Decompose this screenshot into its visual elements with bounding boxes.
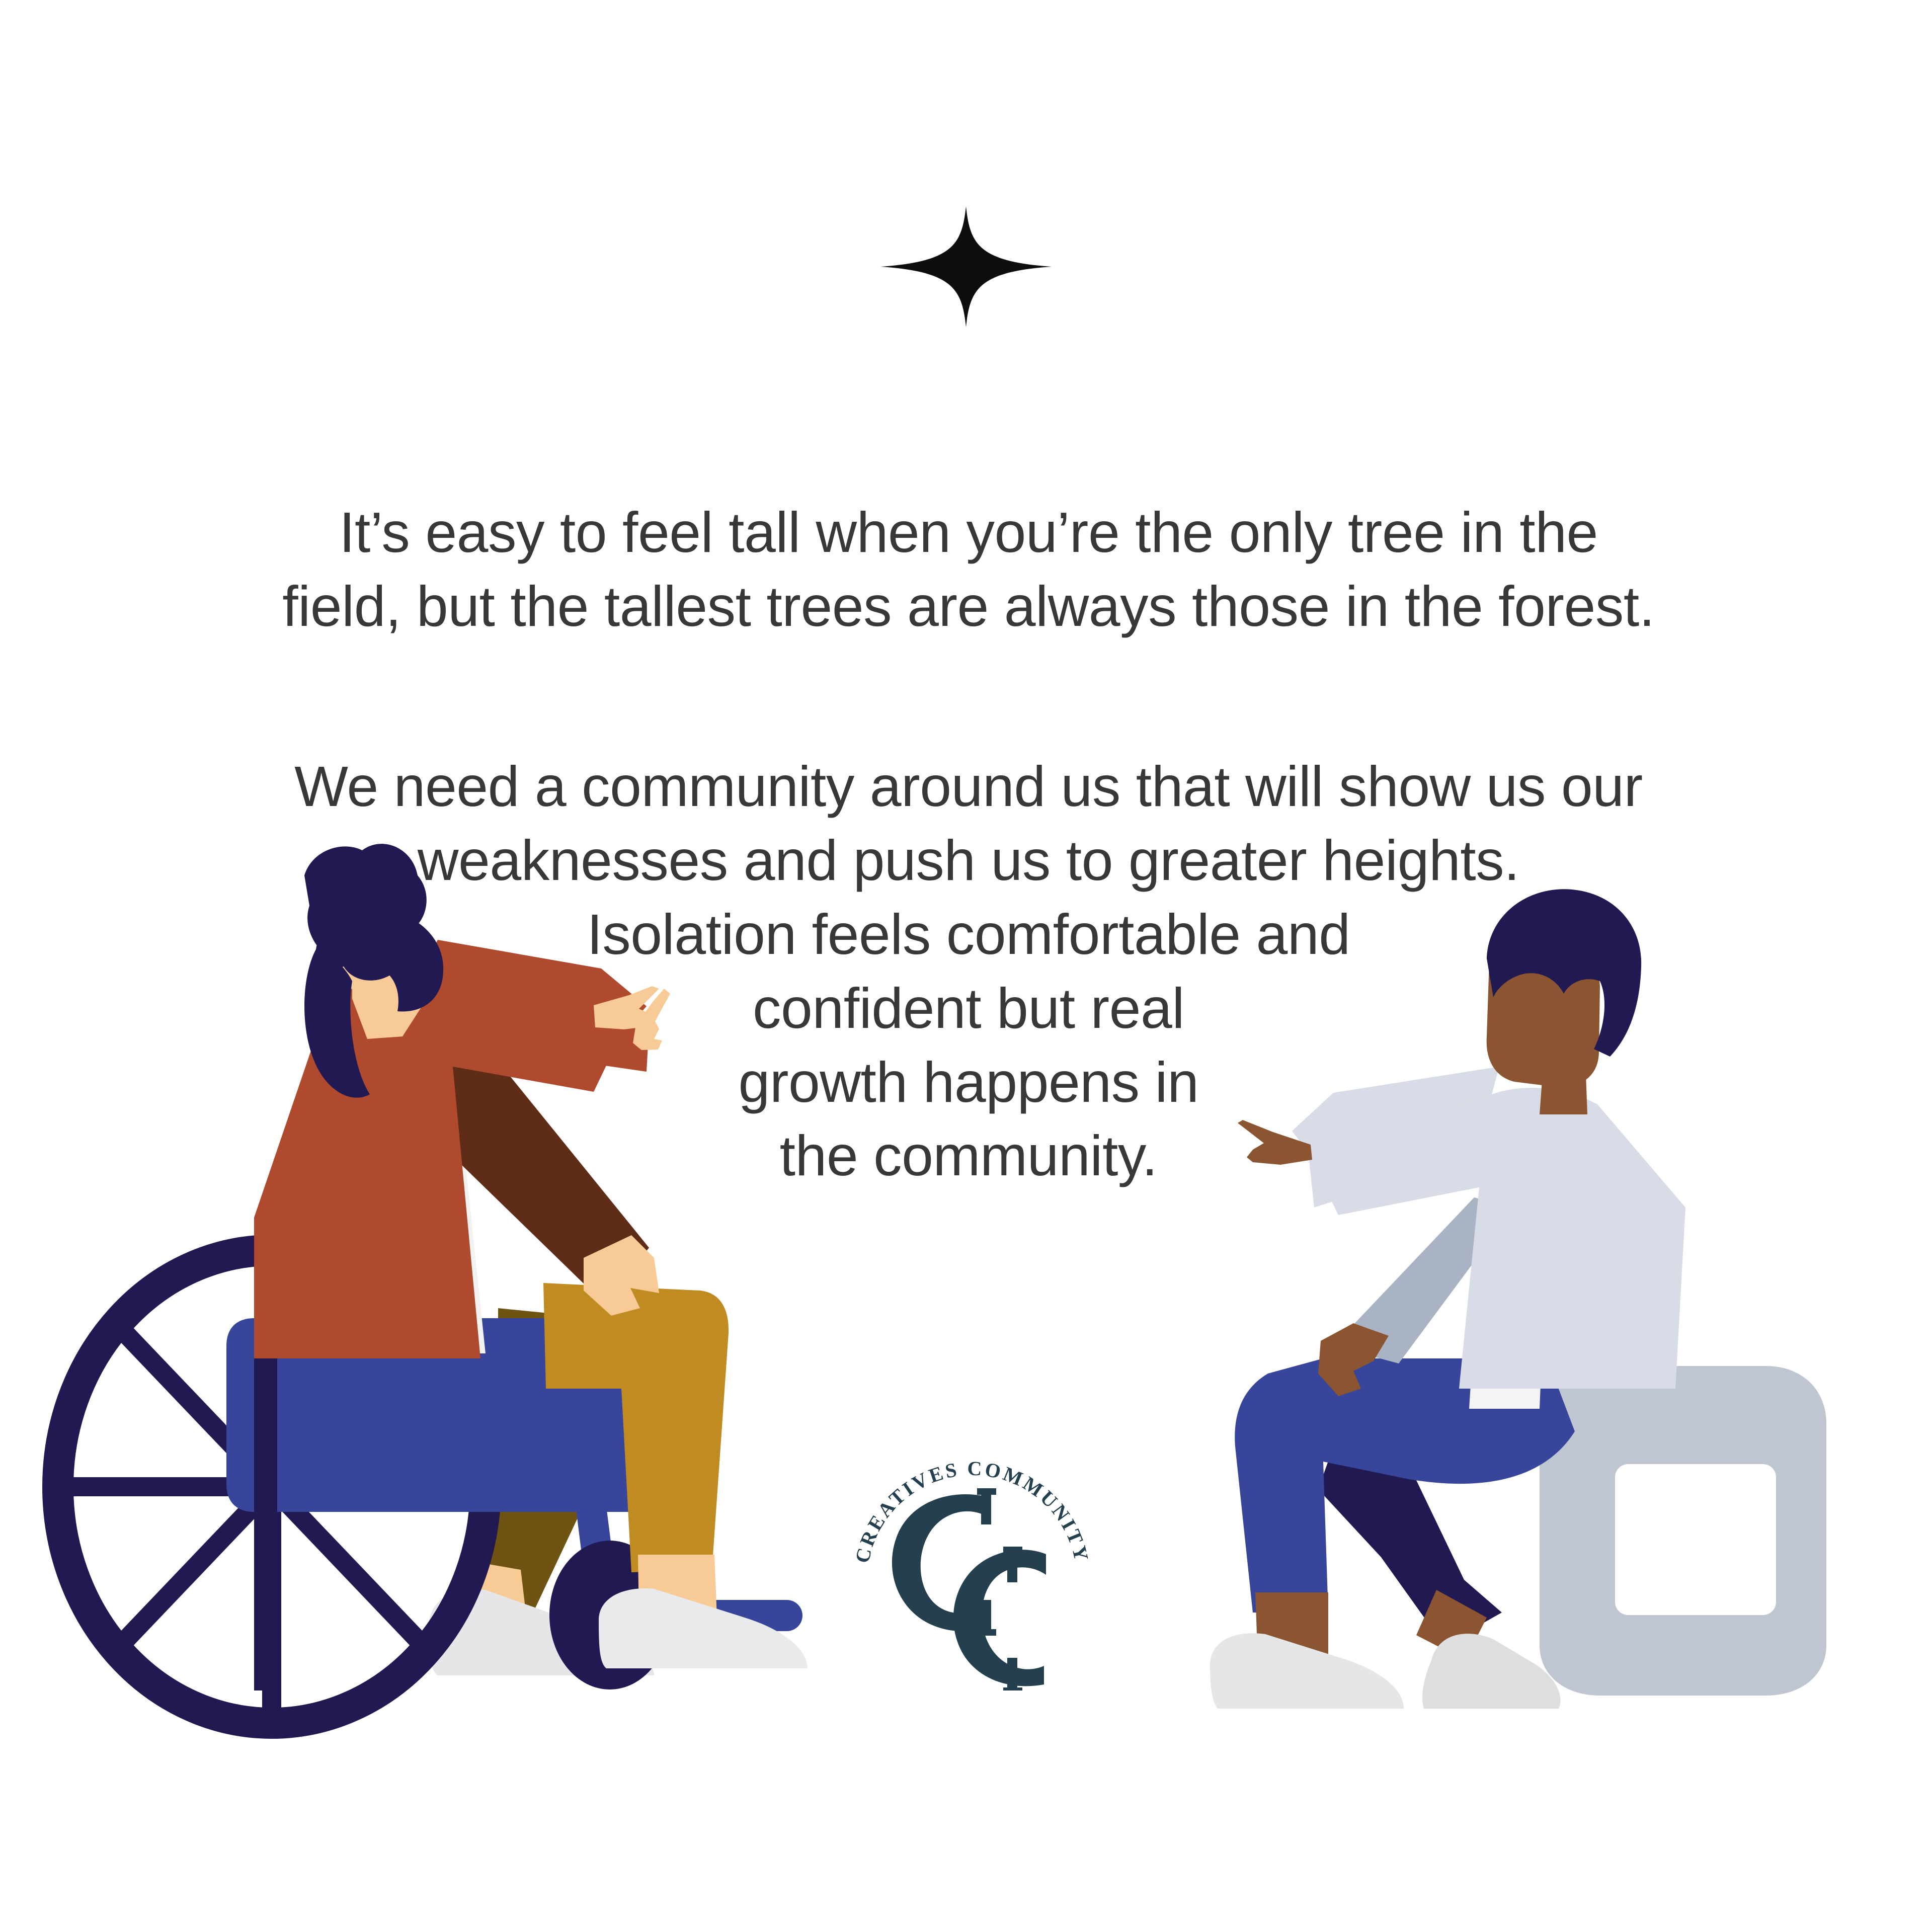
left-figure-back-leg — [429, 1308, 654, 1675]
quote-paragraph-two: We need a community around us that will … — [151, 750, 1786, 1193]
sparkle-decoration — [875, 201, 1057, 332]
quote-paragraph-one: It’s easy to feel tall when you’re the o… — [151, 496, 1786, 643]
left-figure-lower-hand — [584, 1235, 659, 1316]
wheelchair-frame — [254, 1308, 802, 1691]
creatives-community-logo[interactable]: CREATIVES COMMUNITY — [841, 1429, 1103, 1691]
wheelchair-rear-wheel — [55, 1250, 488, 1723]
grey-block-seat — [1540, 1366, 1826, 1696]
right-figure-back-leg — [1318, 1454, 1561, 1709]
logo-monogram-cc — [892, 1488, 1046, 1691]
wheelchair-seat — [226, 1318, 682, 1512]
right-figure-lower-sleeve — [1333, 1197, 1514, 1363]
right-figure-lower-hand — [1318, 1323, 1389, 1396]
right-figure-front-leg — [1210, 1358, 1575, 1709]
right-figure-shirt — [1469, 1172, 1550, 1409]
left-figure-front-leg — [543, 1283, 808, 1668]
four-point-star-icon — [875, 201, 1057, 332]
poster-canvas: It’s easy to feel tall when you’re the o… — [0, 0, 1932, 1932]
